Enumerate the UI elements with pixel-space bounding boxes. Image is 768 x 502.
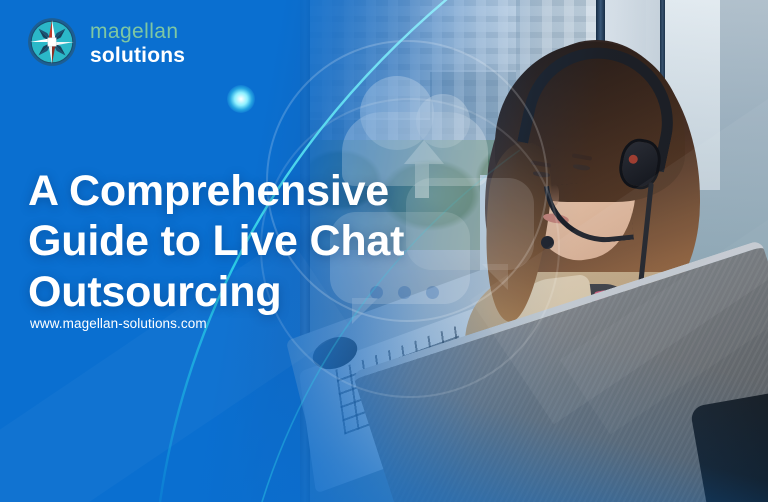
banner-content: magellan solutions A Comprehensive Guide… bbox=[0, 0, 768, 502]
brand-name-top: magellan bbox=[90, 21, 185, 42]
website-url: www.magellan-solutions.com bbox=[30, 316, 207, 331]
compass-rose-icon bbox=[26, 16, 78, 68]
brand-logo[interactable]: magellan solutions bbox=[26, 16, 185, 68]
marketing-banner: magellan solutions A Comprehensive Guide… bbox=[0, 0, 768, 502]
brand-name-bottom: solutions bbox=[90, 45, 185, 66]
brand-wordmark: magellan solutions bbox=[90, 19, 185, 66]
page-title: A Comprehensive Guide to Live Chat Outso… bbox=[28, 166, 498, 317]
